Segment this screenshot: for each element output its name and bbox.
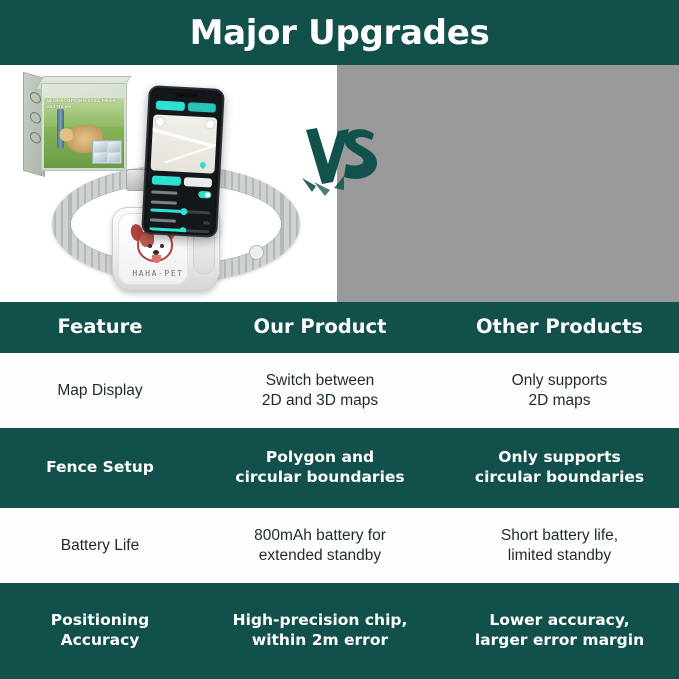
- column-header-other-products: Other Products: [440, 315, 679, 340]
- table-row: Battery Life 800mAh battery forextended …: [0, 508, 679, 583]
- app-button-trigger-warning[interactable]: [183, 177, 212, 187]
- map-locate-icon[interactable]: [156, 118, 164, 126]
- table-row: PositioningAccuracy High-precision chip,…: [0, 583, 679, 679]
- map-pin-icon: [199, 161, 207, 169]
- line: larger error margin: [475, 631, 644, 649]
- app-setting-virtual-fence[interactable]: [151, 188, 211, 198]
- column-header-feature: Feature: [0, 315, 200, 340]
- table-row: Fence Setup Polygon andcircular boundari…: [0, 428, 679, 508]
- line: 800mAh battery for: [254, 527, 386, 544]
- dog-tongue: [152, 255, 161, 263]
- app-tab-dog-training[interactable]: [156, 101, 185, 111]
- vibration-slider[interactable]: [150, 208, 210, 214]
- title-banner: Major Upgrades: [0, 0, 679, 65]
- page-title: Major Upgrades: [190, 13, 490, 53]
- comparison-infographic: Major Upgrades Wireless GPS Electronic F…: [0, 0, 679, 679]
- map-road-1: [150, 127, 215, 148]
- brand-label: HAHA-PET: [122, 269, 194, 278]
- table-header-row: Feature Our Product Other Products: [0, 302, 679, 353]
- vs-brush-icon: [300, 120, 384, 198]
- setting-toggle[interactable]: [198, 191, 211, 199]
- line: Switch between: [266, 372, 375, 389]
- line: circular boundaries: [235, 468, 404, 486]
- line: High-precision chip,: [233, 611, 408, 629]
- line: circular boundaries: [475, 468, 644, 486]
- cell-other-products: Short battery life,limited standby: [440, 508, 679, 583]
- app-tab-collar-setting[interactable]: [187, 102, 216, 112]
- line: 2D and 3D maps: [262, 392, 378, 409]
- box-insert-graphic: [92, 140, 122, 164]
- app-setting-alarm: 30s: [150, 217, 210, 225]
- line: Short battery life,: [501, 527, 618, 544]
- app-map-view[interactable]: [150, 114, 217, 173]
- box-front-face: Wireless GPS Electronic Fence and Traine…: [41, 83, 127, 171]
- cell-our-product: Polygon andcircular boundaries: [200, 428, 440, 508]
- cell-our-product: High-precision chip,within 2m error: [200, 583, 440, 679]
- line: Only supports: [498, 448, 620, 466]
- line: extended standby: [259, 547, 381, 564]
- line: 2D maps: [528, 392, 590, 409]
- line: within 2m error: [252, 631, 388, 649]
- product-box-image: Wireless GPS Electronic Fence and Traine…: [23, 78, 128, 175]
- app-setting-vibration: [151, 200, 211, 206]
- table-row: Map Display Switch between2D and 3D maps…: [0, 353, 679, 428]
- map-road-2: [165, 143, 218, 163]
- line: Positioning: [51, 611, 149, 629]
- hero-comparison: Wireless GPS Electronic Fence and Traine…: [0, 65, 679, 302]
- other-product-panel: [337, 65, 679, 302]
- setting-label: [151, 200, 177, 204]
- cell-feature: Fence Setup: [0, 428, 200, 508]
- comparison-table: Feature Our Product Other Products Map D…: [0, 302, 679, 679]
- dog-eye-right: [160, 244, 164, 248]
- cell-other-products: Only supports2D maps: [440, 353, 679, 428]
- cell-other-products: Only supportscircular boundaries: [440, 428, 679, 508]
- alarm-slider[interactable]: [149, 227, 209, 233]
- our-product-panel: Wireless GPS Electronic Fence and Traine…: [0, 65, 337, 302]
- cell-feature: Battery Life: [0, 508, 200, 583]
- app-settings-panel: 30s: [145, 173, 216, 233]
- map-layers-icon[interactable]: [206, 120, 214, 128]
- cell-feature: PositioningAccuracy: [0, 583, 200, 679]
- line: Only supports: [512, 372, 608, 389]
- column-header-our-product: Our Product: [200, 315, 440, 340]
- phone-mockup: 30s: [141, 85, 225, 238]
- app-button-fence-boundary[interactable]: [152, 175, 181, 185]
- line: Accuracy: [61, 631, 140, 649]
- setting-value: 30s: [203, 220, 210, 225]
- app-mode-buttons[interactable]: [152, 175, 212, 187]
- collar-strap-hole: [249, 245, 264, 260]
- cell-other-products: Lower accuracy,larger error margin: [440, 583, 679, 679]
- setting-label: [150, 218, 176, 222]
- line: limited standby: [508, 547, 611, 564]
- cell-feature: Map Display: [0, 353, 200, 428]
- line: Polygon and: [266, 448, 374, 466]
- cell-our-product: 800mAh battery forextended standby: [200, 508, 440, 583]
- dog-eye-left: [148, 244, 152, 248]
- line: Lower accuracy,: [489, 611, 629, 629]
- cell-our-product: Switch between2D and 3D maps: [200, 353, 440, 428]
- setting-label: [151, 190, 177, 194]
- phone-screen: 30s: [145, 89, 220, 233]
- box-title-text: Wireless GPS Electronic Fence and Traine…: [47, 98, 123, 110]
